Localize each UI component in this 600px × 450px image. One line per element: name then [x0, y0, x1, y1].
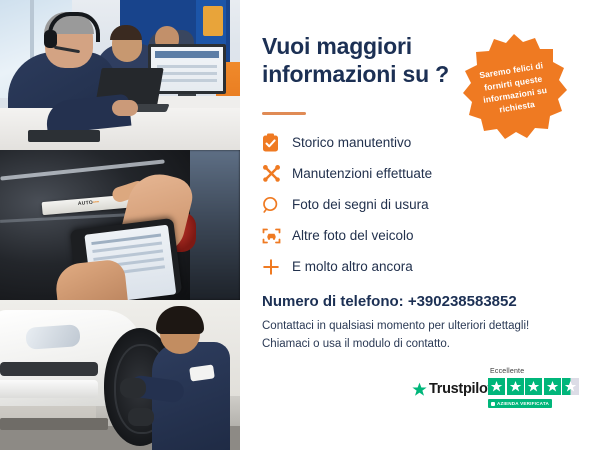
trustpilot-star-icon — [412, 382, 427, 397]
list-item: Storico manutentivo — [262, 128, 592, 157]
photo-column: AUTO••• — [0, 0, 240, 450]
badge-text: Saremo felici di fornirti queste informa… — [464, 57, 565, 120]
trustpilot-stars — [488, 378, 579, 395]
list-item: E molto altro ancora — [262, 252, 592, 281]
contact-description: Contattaci in qualsiasi momento per ulte… — [262, 318, 592, 354]
star-filled — [488, 378, 505, 395]
verified-company-badge: AZIENDA VERIFICATA — [488, 399, 552, 408]
promo-banner: AUTO••• Vuoi maggiori informazioni su ? — [0, 0, 600, 450]
contact-line-2: Chiamaci o usa il modulo di contatto. — [262, 336, 592, 354]
phone-number: Numero di telefono: +390238583852 — [262, 293, 517, 310]
page-title: Vuoi maggiori informazioni su ? — [262, 32, 477, 88]
list-item-label: Storico manutentivo — [292, 135, 411, 150]
feature-list: Storico manutentivo Manutenzi — [262, 128, 592, 283]
photo-call-center — [0, 0, 240, 150]
list-item-label: Manutenzioni effettuate — [292, 166, 432, 181]
list-item-label: E molto altro ancora — [292, 259, 413, 274]
list-item: Foto dei segni di usura — [262, 190, 592, 219]
magnifier-icon — [262, 196, 288, 214]
star-half — [562, 378, 579, 395]
trustpilot-widget[interactable]: Trustpilot Eccellente AZIENDA VERIFICATA — [412, 368, 592, 416]
star-filled — [507, 378, 524, 395]
clipboard-check-icon — [262, 133, 288, 152]
list-item-label: Altre foto del veicolo — [292, 228, 414, 243]
list-item: Manutenzioni effettuate — [262, 159, 592, 188]
title-divider — [262, 112, 306, 115]
verified-label: AZIENDA VERIFICATA — [497, 401, 549, 406]
star-filled — [525, 378, 542, 395]
photo-mechanic-wheel — [0, 300, 240, 450]
list-item: Altre foto del veicolo — [262, 221, 592, 250]
list-item-label: Foto dei segni di usura — [292, 197, 429, 212]
car-frame-icon — [262, 227, 288, 245]
photo-paint-measuring: AUTO••• — [0, 150, 240, 300]
contact-line-1: Contattaci in qualsiasi momento per ulte… — [262, 318, 592, 336]
star-filled — [544, 378, 561, 395]
content-panel: Vuoi maggiori informazioni su ? Saremo f… — [240, 0, 600, 450]
trustpilot-rating-label: Eccellente — [490, 368, 524, 375]
plus-icon — [262, 258, 288, 276]
check-dot-icon — [491, 402, 495, 406]
crossed-tools-icon — [262, 164, 288, 183]
trustpilot-logo: Trustpilot — [412, 381, 492, 397]
trustpilot-name: Trustpilot — [429, 381, 492, 397]
